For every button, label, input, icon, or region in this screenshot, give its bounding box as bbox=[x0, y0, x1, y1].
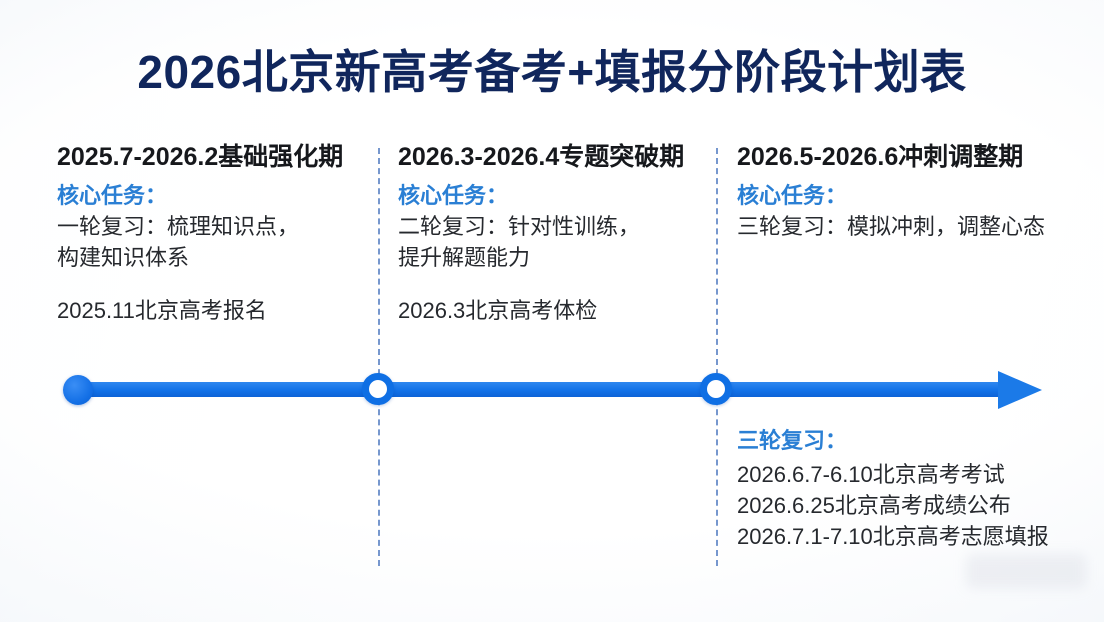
phase-task-body-3: 三轮复习：模拟冲刺，调整心态 bbox=[737, 211, 1067, 242]
phase-milestone-2: 2026.3北京高考体检 bbox=[398, 295, 698, 326]
exam-date-item-2: 2026.6.25北京高考成绩公布 bbox=[737, 490, 1077, 521]
timeline-axis bbox=[0, 355, 1104, 425]
phase-task-body-2: 二轮复习：针对性训练， 提升解题能力 bbox=[398, 211, 698, 273]
phase-columns: 2025.7-2026.2基础强化期 核心任务： 一轮复习：梳理知识点， 构建知… bbox=[0, 140, 1104, 350]
timeline-line bbox=[72, 382, 1004, 397]
phase-period-2: 2026.3-2026.4专题突破期 bbox=[398, 140, 698, 174]
phase-period-3: 2026.5-2026.6冲刺调整期 bbox=[737, 140, 1067, 174]
phase-column-2: 2026.3-2026.4专题突破期 核心任务： 二轮复习：针对性训练， 提升解… bbox=[398, 140, 698, 326]
timeline-node-2 bbox=[362, 373, 394, 405]
timeline-arrow-icon bbox=[998, 371, 1042, 409]
phase-column-3: 2026.5-2026.6冲刺调整期 核心任务： 三轮复习：模拟冲刺，调整心态 bbox=[737, 140, 1067, 242]
timeline-node-3 bbox=[700, 373, 732, 405]
phase-column-1: 2025.7-2026.2基础强化期 核心任务： 一轮复习：梳理知识点， 构建知… bbox=[57, 140, 367, 326]
exam-date-item-1: 2026.6.7-6.10北京高考考试 bbox=[737, 459, 1077, 490]
phase-milestone-1: 2025.11北京高考报名 bbox=[57, 295, 367, 326]
poster-canvas: 2026北京新高考备考+填报分阶段计划表 2025.7-2026.2基础强化期 … bbox=[0, 0, 1104, 622]
page-title: 2026北京新高考备考+填报分阶段计划表 bbox=[0, 44, 1104, 100]
exam-dates-label: 三轮复习： bbox=[737, 425, 1077, 456]
phase-period-1: 2025.7-2026.2基础强化期 bbox=[57, 140, 367, 174]
exam-dates-block: 三轮复习： 2026.6.7-6.10北京高考考试 2026.6.25北京高考成… bbox=[737, 425, 1077, 552]
phase-task-label-1: 核心任务： bbox=[57, 180, 367, 211]
phase-task-body-1: 一轮复习：梳理知识点， 构建知识体系 bbox=[57, 211, 367, 273]
phase-task-label-2: 核心任务： bbox=[398, 180, 698, 211]
watermark bbox=[966, 554, 1086, 588]
exam-date-item-3: 2026.7.1-7.10北京高考志愿填报 bbox=[737, 521, 1077, 552]
phase-task-label-3: 核心任务： bbox=[737, 180, 1067, 211]
timeline-node-1 bbox=[63, 375, 93, 405]
